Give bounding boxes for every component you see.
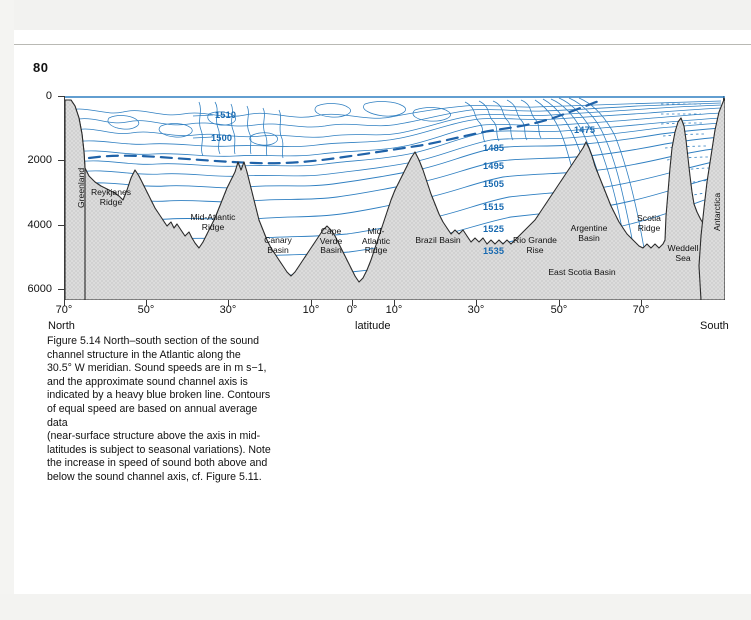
geo-label-canary-basin: Canary Basin: [257, 236, 299, 255]
geo-label-reykjanes-ridge: Reykjanes Ridge: [79, 188, 143, 207]
geo-label-scotia-ridge: Scotia Ridge: [631, 214, 667, 233]
caption-line-5: indicated by a heavy blue broken line. C…: [47, 389, 270, 401]
caption-line-1: Figure 5.14 North–south section of the s…: [47, 335, 259, 347]
caption-line-7: (near-surface structure above the axis i…: [47, 430, 260, 442]
caption-line-6: of equal speed are based on annual avera…: [47, 403, 257, 429]
y-tick-label-2000: 2000: [6, 154, 52, 166]
caption-line-2: channel structure in the Atlantic along …: [47, 349, 241, 361]
section-plot-area: 1510 1500 1475 1485 1495 1505 1515 1525 …: [64, 96, 724, 300]
y-tick-label-4000: 4000: [6, 219, 52, 231]
page-number: 80: [33, 60, 48, 75]
x-tick-label-50n: 50°: [123, 304, 169, 316]
x-tick-label-30n: 30°: [205, 304, 251, 316]
caption-line-8: latitudes is subject to seasonal variati…: [47, 444, 271, 456]
figure-caption: Figure 5.14 North–south section of the s…: [47, 335, 279, 485]
x-axis-title: latitude: [355, 320, 390, 332]
x-tick-label-70n: 70°: [41, 304, 87, 316]
caption-line-3: 30.5° W meridian. Sound speeds are in m …: [47, 362, 266, 374]
caption-line-10: below the sound channel axis, cf. Figure…: [47, 471, 262, 483]
page-top-margin: [0, 0, 751, 30]
geo-line: Sea: [663, 254, 703, 264]
x-tick-label-50s: 50°: [536, 304, 582, 316]
geo-label-east-scotia-basin: East Scotia Basin: [537, 268, 627, 278]
contour-label-1510: 1510: [215, 110, 236, 120]
contour-label-1485: 1485: [483, 143, 504, 153]
geo-label-rio-grande-rise: Rio Grande Rise: [508, 236, 562, 255]
contour-label-1505: 1505: [483, 179, 504, 189]
contour-label-1475: 1475: [574, 125, 595, 135]
contour-label-1535: 1535: [483, 246, 504, 256]
geo-label-brazil-basin: Brazil Basin: [405, 236, 471, 246]
figure-5-14: 0 2000 4000 6000 depth (m): [0, 84, 751, 324]
geo-label-argentine-basin: Argentine Basin: [562, 224, 616, 243]
contour-label-1525: 1525: [483, 224, 504, 234]
geo-line: Ridge: [177, 223, 249, 233]
geo-label-weddell-sea: Weddell Sea: [663, 244, 703, 263]
caption-line-4: and the approximate sound channel axis i…: [47, 376, 248, 388]
contour-label-1500: 1500: [211, 133, 232, 143]
geo-label-cape-verde-basin: Cape Verde Basin: [311, 227, 351, 256]
y-tick-label-6000: 6000: [6, 283, 52, 295]
x-tick-label-10n: 10°: [288, 304, 334, 316]
x-tick-label-30s: 30°: [453, 304, 499, 316]
geo-line: Rise: [508, 246, 562, 256]
y-tick-label-0: 0: [6, 90, 52, 102]
geo-line: Ridge: [79, 198, 143, 208]
caption-line-9: the increase in speed of sound both abov…: [47, 457, 267, 469]
x-tick-label-70s: 70°: [618, 304, 664, 316]
x-tick-label-10s: 10°: [371, 304, 417, 316]
x-tick-label-0: 0°: [329, 304, 375, 316]
x-axis-north-label: North: [48, 320, 75, 332]
geo-label-mid-atlantic-ridge-south: Mid- Atlantic Ridge: [353, 227, 399, 256]
geo-label-mid-atlantic-ridge-north: Mid-Atlantic Ridge: [177, 213, 249, 232]
geo-line: Basin: [311, 246, 351, 256]
page-bottom-margin: [0, 594, 751, 620]
geo-line: Basin: [257, 246, 299, 256]
x-axis-south-label: South: [700, 320, 729, 332]
geo-line: Ridge: [631, 224, 667, 234]
geo-line: Basin: [562, 234, 616, 244]
geo-label-antarctica: Antarctica: [713, 193, 723, 231]
contour-label-1495: 1495: [483, 161, 504, 171]
page-header-rule: [14, 44, 751, 45]
contour-label-1515: 1515: [483, 202, 504, 212]
geo-line: Ridge: [353, 246, 399, 256]
